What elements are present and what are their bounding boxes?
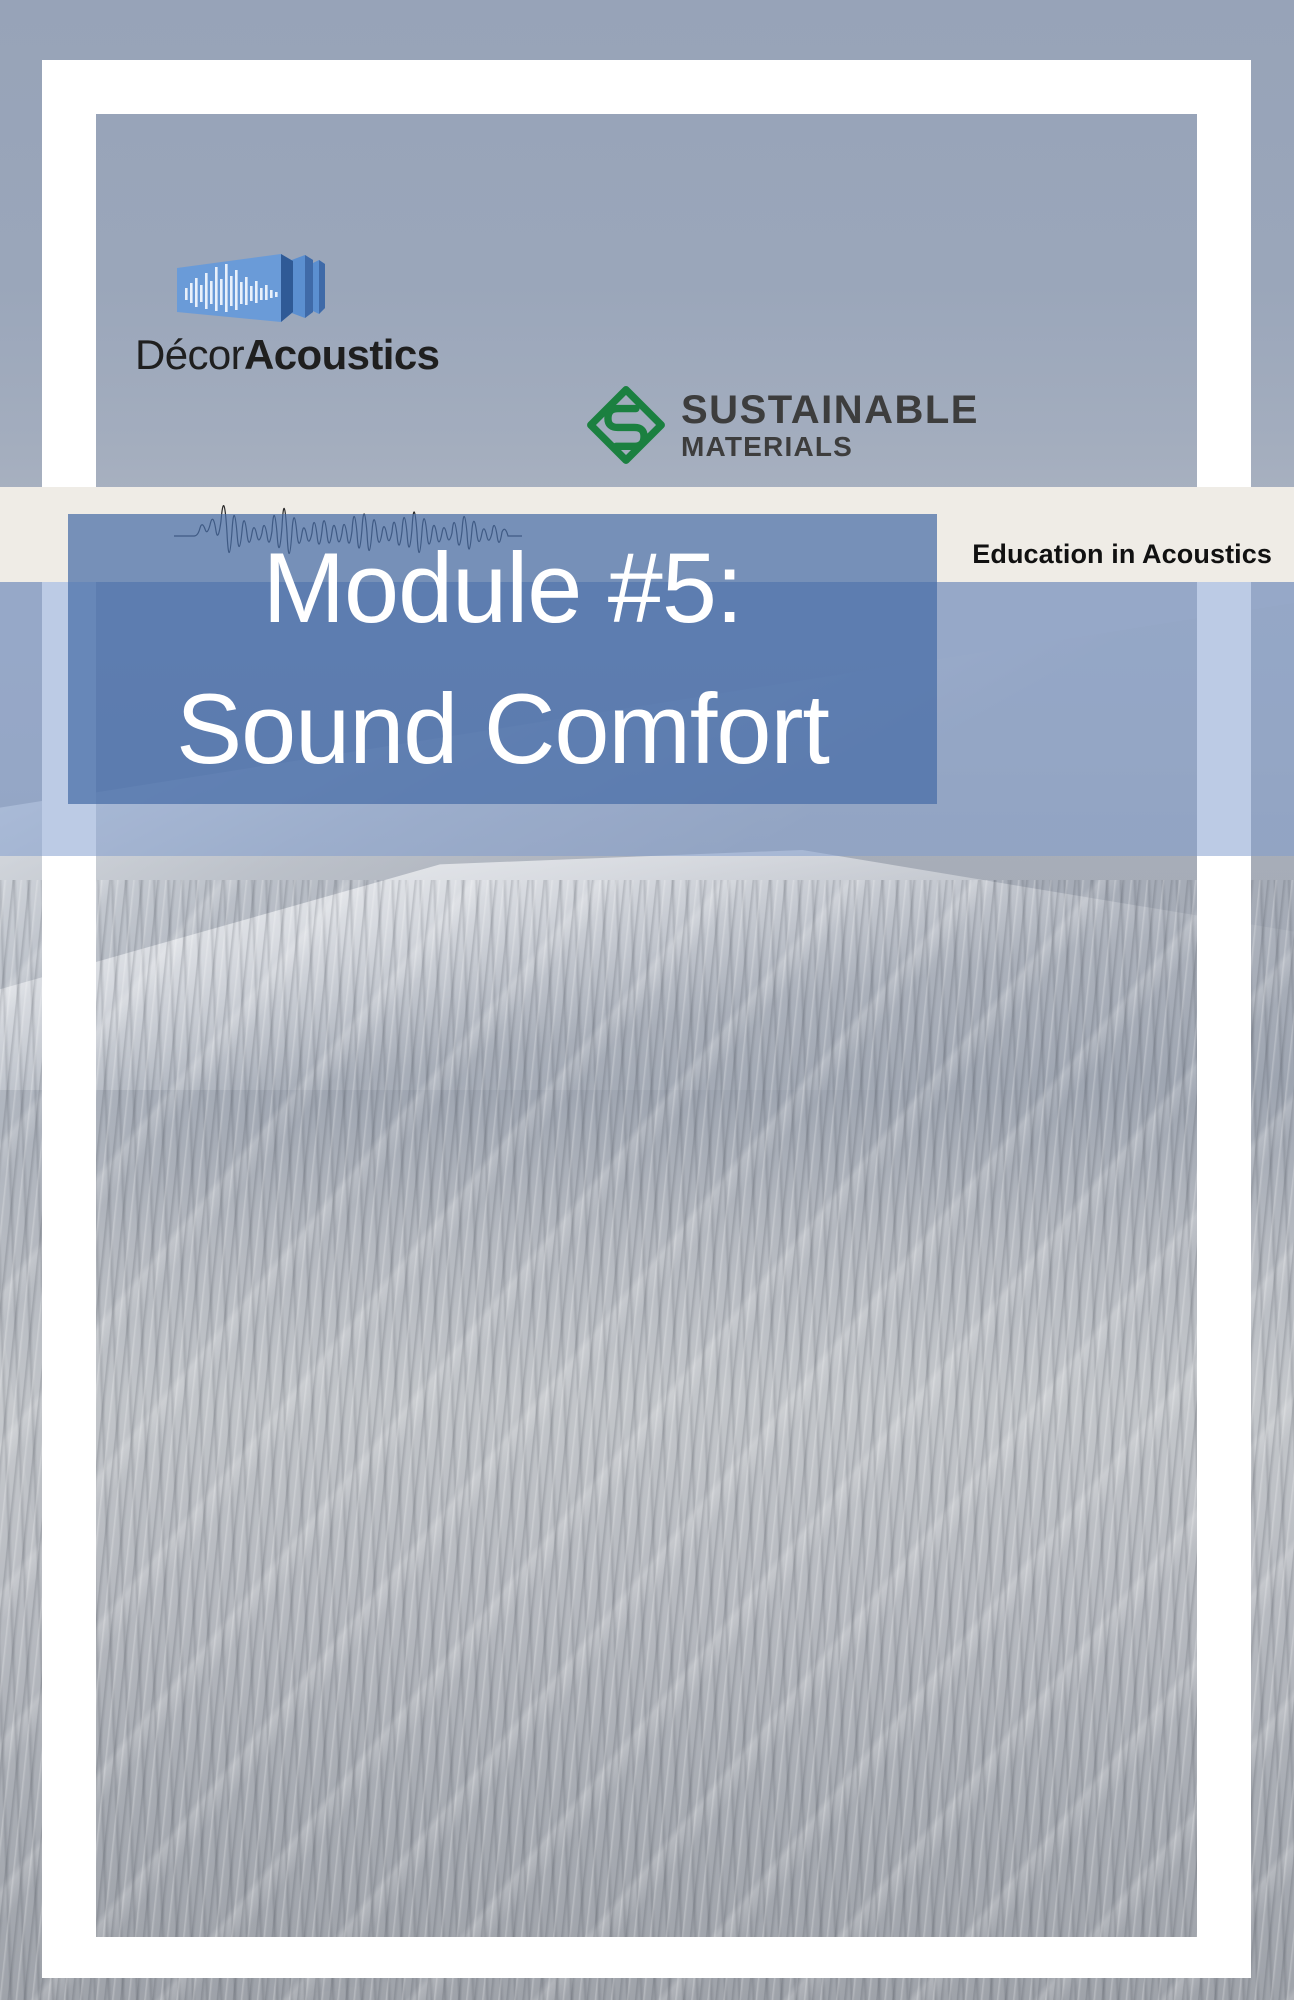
sustainable-materials-wordmark: SUSTAINABLE MATERIALS [681, 390, 979, 461]
acoustic-panel-waveform-icon [169, 252, 329, 330]
sustainable-materials-logo: SUSTAINABLE MATERIALS [585, 384, 979, 466]
brand-name-bold: Acoustics [244, 331, 439, 378]
sustainable-materials-loop-icon [585, 384, 667, 466]
decor-acoustics-wordmark: DécorAcoustics [135, 334, 465, 376]
decor-acoustics-logo: DécorAcoustics [135, 252, 465, 376]
title-line-2: Sound Comfort [176, 659, 829, 800]
partner-name-line1: SUSTAINABLE [681, 390, 979, 430]
brand-name-regular: Décor [135, 331, 244, 378]
banner-label: Education in Acoustics [972, 539, 1272, 570]
slide-canvas: DécorAcoustics SUSTAINABLE MATERIALS Edu… [0, 0, 1294, 2000]
title-line-1: Module #5: [263, 518, 743, 659]
partner-name-line2: MATERIALS [681, 433, 979, 461]
slide-title: Module #5: Sound Comfort [68, 514, 937, 804]
